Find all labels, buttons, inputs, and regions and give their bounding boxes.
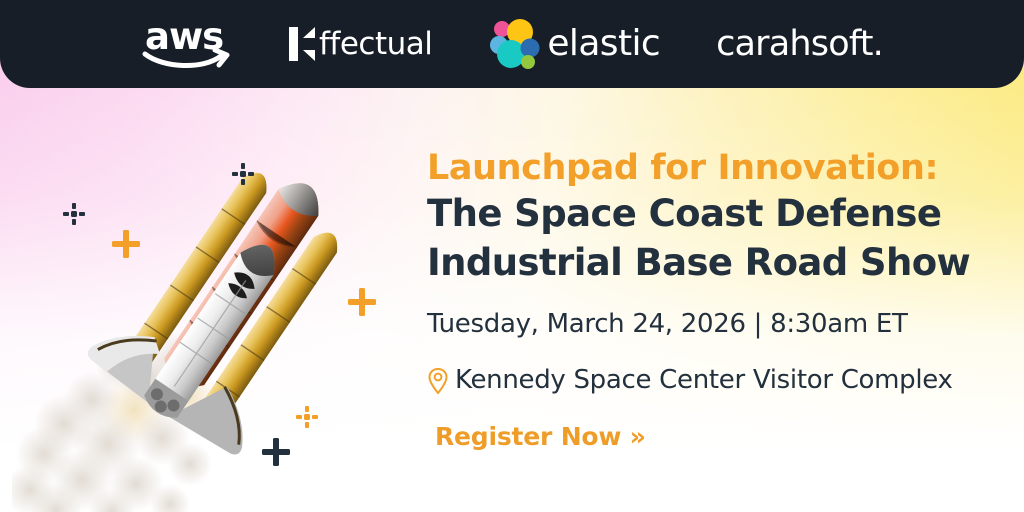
carahsoft-logo-label: carahsoft. — [716, 27, 883, 62]
event-location-label: Kennedy Space Center Visitor Complex — [455, 362, 953, 399]
plus-orange-2-icon — [347, 287, 377, 317]
register-now-button[interactable]: Register Now » — [435, 422, 646, 451]
aws-smile-icon — [141, 48, 233, 70]
effectual-e-mark-icon — [289, 27, 315, 61]
plus-orange-1-icon — [111, 229, 141, 259]
sparkle-orange-1-icon — [296, 406, 318, 428]
sponsor-logo-bar: aws ffectual el — [0, 0, 1024, 88]
aws-logo[interactable]: aws — [141, 18, 233, 70]
carahsoft-logo-dot: . — [873, 24, 883, 64]
event-datetime: Tuesday, March 24, 2026 | 8:30am ET — [427, 306, 1007, 343]
elastic-logo-label: elastic — [547, 26, 660, 62]
map-pin-icon — [427, 367, 449, 395]
space-shuttle-icon — [74, 132, 374, 472]
event-banner: aws ffectual el — [0, 0, 1024, 512]
rocket-artwork — [28, 104, 420, 512]
event-details: Launchpad for Innovation: The Space Coas… — [427, 150, 1007, 451]
headline-main-line-2: Industrial Base Road Show — [427, 240, 1007, 287]
event-location: Kennedy Space Center Visitor Complex — [427, 362, 1007, 399]
headline-accent: Launchpad for Innovation: — [427, 150, 1007, 188]
sparkle-dark-2-icon — [232, 163, 254, 185]
elastic-cluster-icon — [488, 18, 540, 70]
plus-dark-1-icon — [261, 437, 291, 467]
sparkle-dark-1-icon — [63, 203, 85, 225]
effectual-logo-label: ffectual — [319, 29, 432, 60]
headline-main-line-1: The Space Coast Defense — [427, 191, 1007, 238]
carahsoft-logo-text: carahsoft — [716, 24, 873, 64]
elastic-logo[interactable]: elastic — [488, 18, 660, 70]
carahsoft-logo[interactable]: carahsoft. — [716, 27, 883, 62]
effectual-logo[interactable]: ffectual — [289, 27, 432, 61]
